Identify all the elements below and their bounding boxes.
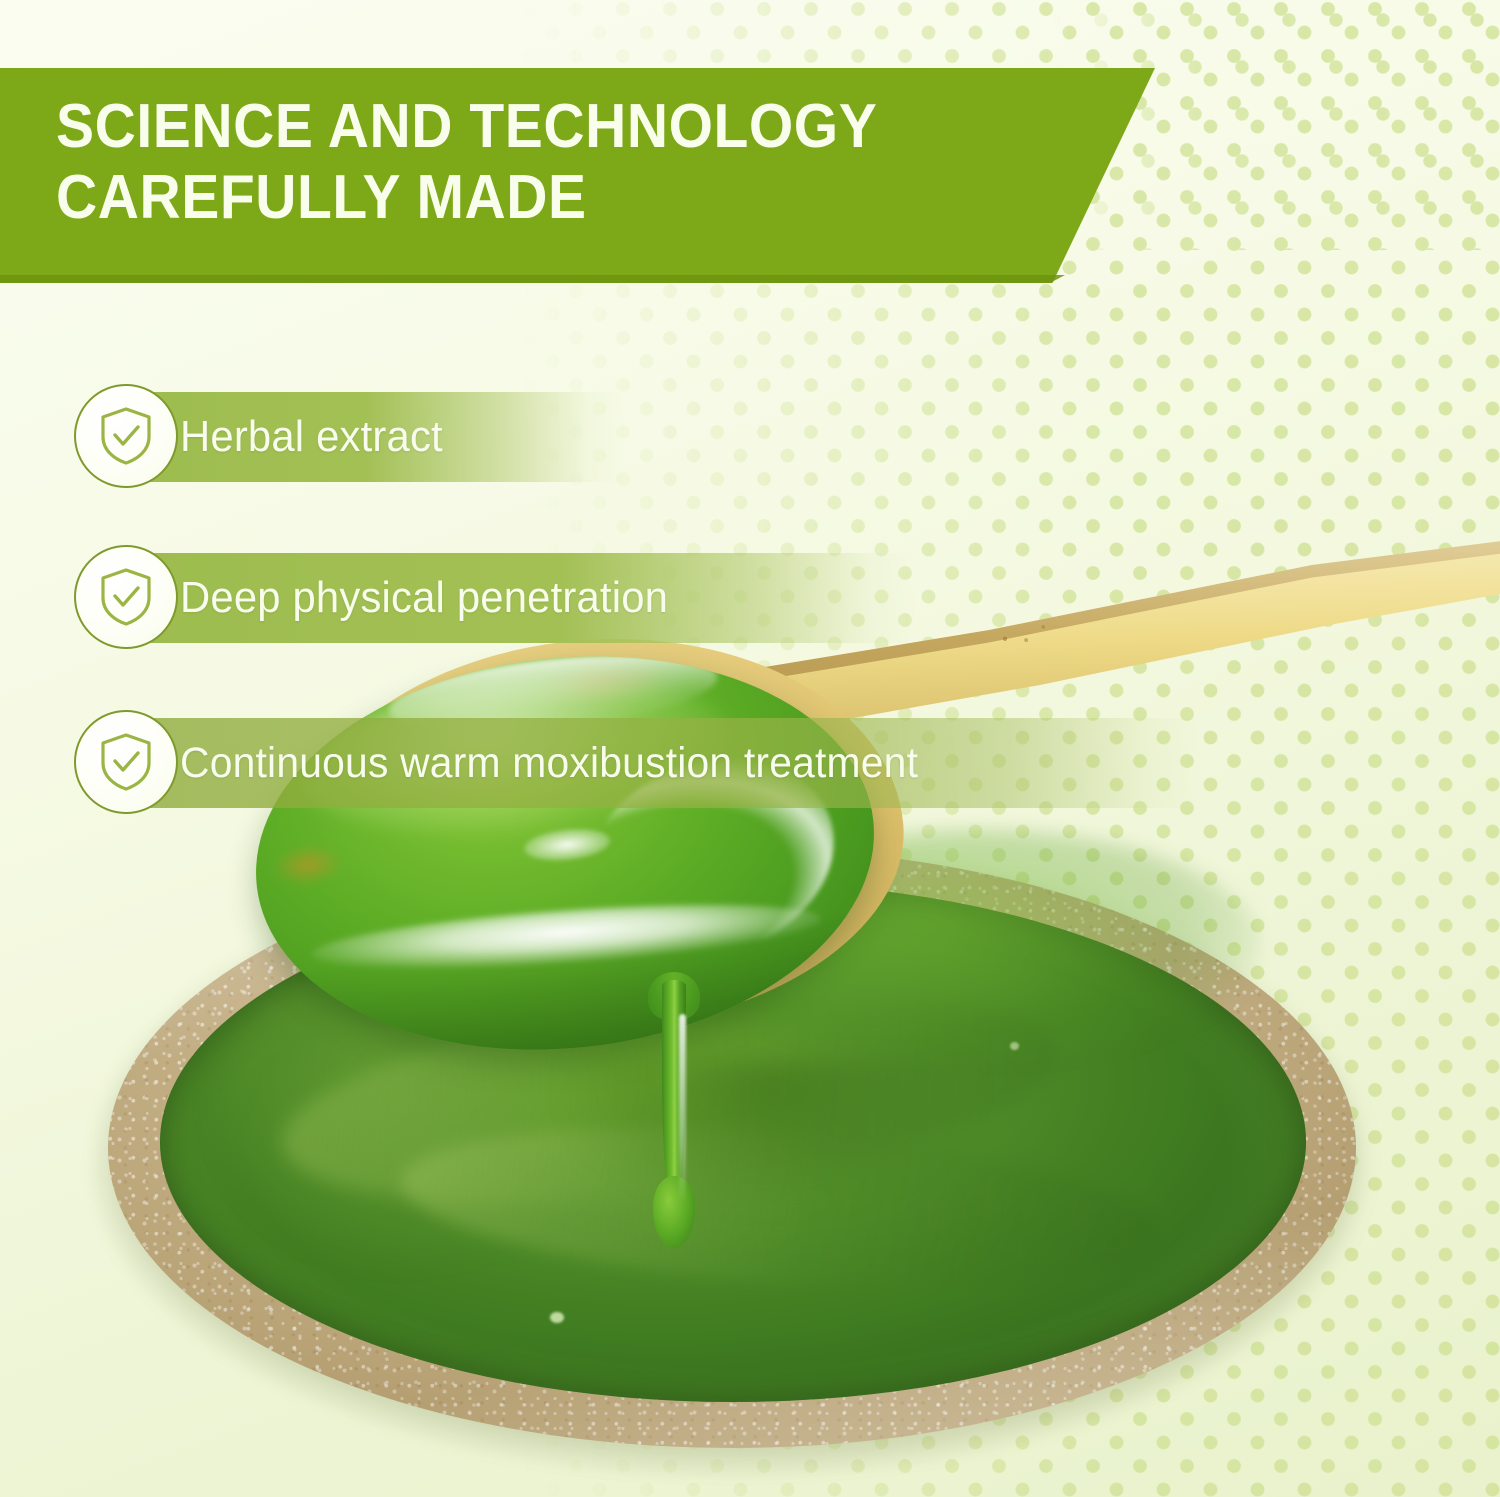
feature-icon-badge: [74, 710, 178, 814]
feature-label: Deep physical penetration: [180, 553, 668, 643]
paste-warm-tint: [271, 841, 345, 888]
paste-drip: [640, 980, 710, 1280]
feature-label: Continuous warm moxibustion treatment: [180, 718, 918, 808]
shield-check-icon: [97, 731, 155, 793]
spoon-bowl: [255, 640, 915, 1080]
feature-icon-badge: [74, 545, 178, 649]
paste-highlight-dot: [550, 1312, 564, 1323]
product-feature-banner: SCIENCE AND TECHNOLOGY CAREFULLY MADE He…: [0, 0, 1500, 1497]
header-banner-bottom-edge: [0, 275, 1065, 283]
feature-label: Herbal extract: [180, 392, 443, 482]
spoon-dish-contact-shadow: [560, 1060, 980, 1210]
shield-check-icon: [97, 566, 155, 628]
feature-icon-badge: [74, 384, 178, 488]
drip-highlight: [679, 1014, 686, 1204]
shield-check-icon: [97, 405, 155, 467]
drip-droplet: [653, 1176, 695, 1248]
product-photo: [0, 500, 1500, 1497]
page-title: SCIENCE AND TECHNOLOGY CAREFULLY MADE: [56, 92, 1013, 233]
